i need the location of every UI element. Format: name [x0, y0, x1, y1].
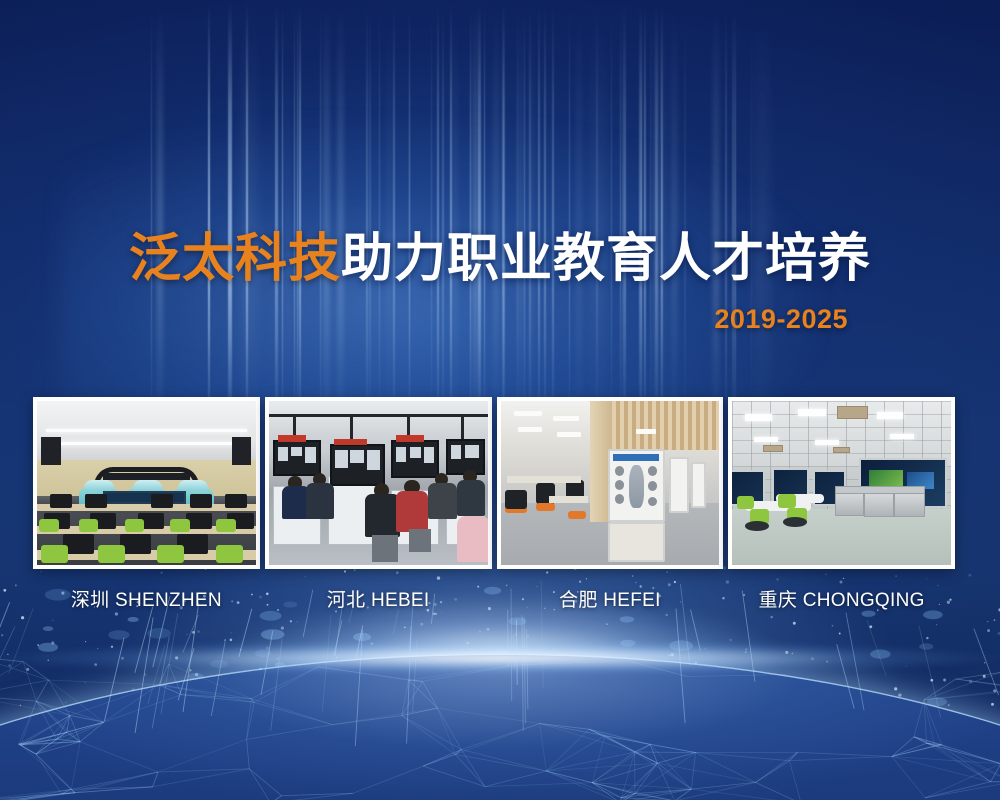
caption-hefei: 合肥 HEFEI	[497, 585, 724, 612]
caption-hebei: 河北 HEBEI	[265, 585, 492, 612]
display-cabinet-3	[691, 462, 706, 508]
page-title: 泛太科技助力职业教育人才培养	[0, 232, 1000, 287]
cabinet-base	[608, 522, 665, 561]
brand-name: 泛太科技	[129, 230, 341, 288]
equipment-station-2	[864, 493, 895, 518]
gallery-row	[33, 397, 955, 569]
horizon-glow-line	[0, 638, 1000, 678]
headline-text: 助力职业教育人才培养	[341, 230, 871, 288]
display-cabinet-2	[669, 457, 689, 513]
training-panel-3	[391, 440, 439, 478]
training-panel-1	[273, 440, 321, 476]
photo-hefei-showroom	[501, 401, 720, 565]
globe-sphere	[0, 655, 1000, 800]
training-panel-2	[330, 444, 385, 487]
year-range: 2019-2025	[0, 304, 1000, 335]
poster-canvas: 泛太科技助力职业教育人才培养 2019-2025	[0, 0, 1000, 800]
lectern-display	[103, 491, 186, 504]
photo-chongqing-lab	[732, 401, 951, 565]
ceiling-vent	[837, 406, 868, 419]
gallery-card-hebei[interactable]	[265, 397, 492, 569]
speaker-left	[41, 437, 61, 465]
equipment-station-3	[894, 493, 925, 518]
caption-chongqing: 重庆 CHONGQING	[728, 585, 955, 612]
caption-shenzhen: 深圳 SHENZHEN	[33, 585, 260, 612]
gallery-card-hefei[interactable]	[497, 397, 724, 569]
gallery-card-chongqing[interactable]	[728, 397, 955, 569]
photo-hebei-training	[269, 401, 488, 565]
gallery-card-shenzhen[interactable]	[33, 397, 260, 569]
training-panel-4	[446, 439, 485, 475]
photo-shenzhen-classroom	[37, 401, 256, 565]
equipment-station-1	[835, 493, 863, 516]
speaker-right	[232, 437, 252, 465]
sky-glow	[120, 560, 880, 680]
caption-row: 深圳 SHENZHEN 河北 HEBEI 合肥 HEFEI 重庆 CHONGQI…	[33, 585, 955, 612]
display-cabinet-main	[608, 449, 665, 523]
